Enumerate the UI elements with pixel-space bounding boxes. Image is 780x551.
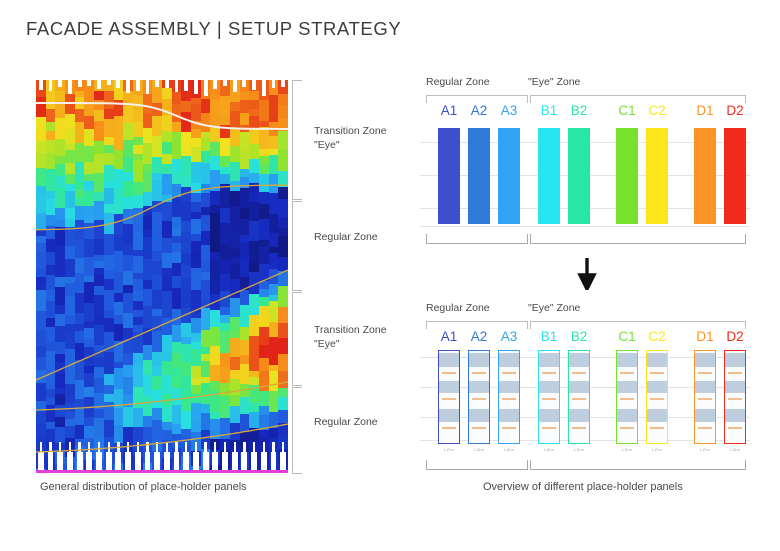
bottom-bracket-regular	[426, 234, 528, 244]
panel-dimension: 1.20 m	[690, 448, 720, 452]
panel-dimension: 1.20 m	[494, 448, 524, 452]
color-bar-d1[interactable]	[694, 128, 716, 224]
top-bracket-regular	[426, 321, 528, 329]
panel-label-b2: B2	[566, 329, 592, 344]
column-foot-notch	[280, 452, 286, 470]
panel-detail-b2[interactable]	[568, 350, 590, 444]
column-foot-notch	[135, 452, 141, 470]
column-top-notch	[204, 80, 208, 96]
down-arrow-icon	[577, 258, 597, 290]
panel-segment	[499, 381, 519, 393]
heatmap-cell	[278, 271, 288, 287]
column-foot-notch	[241, 452, 247, 470]
panel-segment	[499, 409, 519, 422]
panel-label-a3: A3	[496, 103, 522, 118]
color-bar-c1[interactable]	[616, 128, 638, 224]
heatmap-cell	[278, 338, 288, 354]
heatmap-cell	[278, 397, 288, 411]
column-foot-notch	[145, 452, 151, 470]
panel-segment	[647, 409, 667, 422]
column-top-notch	[116, 80, 120, 88]
column-foot-notch	[125, 452, 131, 470]
color-bar-b2[interactable]	[568, 128, 590, 224]
zone-label: Regular Zone	[314, 231, 378, 245]
column-top-notch	[78, 80, 82, 87]
heatmap-cell	[278, 257, 288, 271]
column-foot-notch	[183, 452, 189, 470]
column-top-notch	[272, 80, 276, 88]
heatmap-cell	[278, 199, 288, 219]
top-bracket-regular	[426, 95, 528, 103]
panel-segment	[617, 353, 637, 367]
column-foot-stem	[127, 442, 129, 454]
column-foot-stem	[234, 442, 236, 454]
column-top-notch	[49, 80, 53, 91]
color-bar-a3[interactable]	[498, 128, 520, 224]
zone-bracket	[292, 80, 302, 200]
heatmap-cell	[278, 286, 288, 308]
panel-segment	[439, 409, 459, 422]
panel-label-c1: C1	[614, 103, 640, 118]
zone-name-regular: Regular Zone	[426, 76, 490, 88]
panel-detail-d1[interactable]	[694, 350, 716, 444]
panel-tick	[542, 372, 556, 374]
panel-tick	[472, 427, 486, 429]
panel-tick	[502, 427, 516, 429]
panel-tick	[442, 398, 456, 400]
panel-tick	[572, 398, 586, 400]
column-foot-notch	[67, 452, 73, 470]
column-foot-stem	[40, 442, 42, 454]
column-foot-notch	[96, 452, 102, 470]
heatmap-column	[278, 80, 288, 472]
column-top-notch	[194, 80, 198, 94]
panel-tick	[502, 372, 516, 374]
column-foot-notch	[203, 452, 209, 470]
panel-detail-d2[interactable]	[724, 350, 746, 444]
panel-label-b2: B2	[566, 103, 592, 118]
column-foot-stem	[214, 442, 216, 454]
panel-tick	[728, 372, 742, 374]
panel-detail-c2[interactable]	[646, 350, 668, 444]
panel-detail-a3[interactable]	[498, 350, 520, 444]
panel-label-d2: D2	[722, 103, 748, 118]
column-foot-notch	[77, 452, 83, 470]
panel-tick	[698, 427, 712, 429]
panel-segment	[695, 409, 715, 422]
panel-label-b1: B1	[536, 329, 562, 344]
panel-dimension: 1.20 m	[612, 448, 642, 452]
column-top-notch	[213, 80, 217, 89]
panel-label-a2: A2	[466, 103, 492, 118]
column-foot-stem	[185, 442, 187, 454]
column-top-notch	[58, 80, 62, 87]
column-foot-stem	[263, 442, 265, 454]
column-foot-notch	[86, 452, 92, 470]
column-foot-notch	[193, 452, 199, 470]
panel-dimension: 1.20 m	[720, 448, 750, 452]
column-top-notch	[97, 80, 101, 89]
column-foot-notch	[174, 452, 180, 470]
panel-tick	[620, 427, 634, 429]
heatmap-cell	[278, 307, 288, 323]
heatmap-cell	[278, 323, 288, 339]
panel-dimension: 1.20 m	[464, 448, 494, 452]
panel-tick	[472, 372, 486, 374]
column-foot-notch	[164, 452, 170, 470]
column-foot-stem	[117, 442, 119, 454]
panel-label-a2: A2	[466, 329, 492, 344]
color-bar-a1[interactable]	[438, 128, 460, 224]
column-top-notch	[223, 80, 227, 86]
zone-name-eye: "Eye" Zone	[528, 76, 580, 88]
panel-label-a3: A3	[496, 329, 522, 344]
column-top-notch	[175, 80, 179, 92]
panel-segment	[539, 353, 559, 367]
column-foot-stem	[88, 442, 90, 454]
column-top-notch	[281, 80, 285, 87]
panel-label-c2: C2	[644, 329, 670, 344]
panel-label-d1: D1	[692, 329, 718, 344]
panel-tick	[728, 427, 742, 429]
bottom-bracket-eye	[530, 460, 746, 470]
top-bracket-eye	[530, 321, 746, 329]
panel-segment	[725, 409, 745, 422]
bottom-bracket-regular	[426, 460, 528, 470]
column-foot-stem	[195, 442, 197, 454]
color-bar-b1[interactable]	[538, 128, 560, 224]
zone-label: Regular Zone	[314, 416, 378, 430]
panel-dimension: 1.20 m	[564, 448, 594, 452]
panel-tick	[502, 398, 516, 400]
panel-label-a1: A1	[436, 329, 462, 344]
grid-line-base	[420, 226, 750, 227]
panel-tick	[698, 372, 712, 374]
panel-segment	[539, 409, 559, 422]
column-foot-stem	[108, 442, 110, 454]
column-foot-notch	[57, 452, 63, 470]
column-foot-stem	[253, 442, 255, 454]
panel-segment	[469, 353, 489, 367]
panel-detail-overview: Regular Zone"Eye" ZoneA11.20 mA21.20 mA3…	[420, 302, 750, 477]
panel-dimension: 1.20 m	[642, 448, 672, 452]
heatmap-cell	[278, 423, 288, 437]
heatmap-cell	[278, 150, 288, 172]
panel-segment	[617, 381, 637, 393]
panel-color-overview: Regular Zone"Eye" ZoneA1A2A3B1B2C1C2D1D2	[420, 76, 750, 246]
heatmap-cell	[278, 410, 288, 423]
heatmap-cell	[278, 171, 288, 188]
column-top-notch	[155, 80, 159, 87]
heatmap-cell	[278, 131, 288, 150]
column-top-notch	[165, 80, 169, 88]
panel-label-b1: B1	[536, 103, 562, 118]
panel-segment	[539, 381, 559, 393]
heatmap-cell	[278, 105, 288, 119]
column-top-notch	[146, 80, 150, 94]
heatmap-cell	[278, 118, 288, 132]
panel-segment	[439, 381, 459, 393]
column-foot-stem	[272, 442, 274, 454]
column-foot-stem	[166, 442, 168, 454]
column-top-notch	[39, 80, 43, 90]
column-top-notch	[233, 80, 237, 92]
column-foot-stem	[146, 442, 148, 454]
panel-detail-a2[interactable]	[468, 350, 490, 444]
column-foot-notch	[38, 452, 44, 470]
column-top-notch	[242, 80, 246, 87]
zone-bracket	[292, 201, 302, 291]
general-distribution-heatmap	[36, 80, 288, 472]
panel-segment	[725, 353, 745, 367]
column-foot-stem	[49, 442, 51, 454]
column-top-notch	[87, 80, 91, 86]
column-top-notch	[107, 80, 111, 85]
column-foot-stem	[243, 442, 245, 454]
panel-label-d1: D1	[692, 103, 718, 118]
zone-name-eye: "Eye" Zone	[528, 302, 580, 314]
zone-label: Transition Zone "Eye"	[314, 125, 387, 152]
panel-segment	[439, 353, 459, 367]
panel-segment	[725, 381, 745, 393]
column-foot-notch	[251, 452, 257, 470]
panel-tick	[472, 398, 486, 400]
column-top-notch	[136, 80, 140, 91]
column-foot-notch	[154, 452, 160, 470]
column-foot-notch	[212, 452, 218, 470]
page-title: FACADE ASSEMBLY | SETUP STRATEGY	[26, 18, 401, 40]
panel-tick	[620, 372, 634, 374]
panel-tick	[728, 398, 742, 400]
panel-tick	[542, 398, 556, 400]
column-top-notch	[262, 80, 266, 96]
column-foot-stem	[156, 442, 158, 454]
panel-tick	[620, 398, 634, 400]
zone-bracket	[292, 387, 302, 474]
panel-tick	[442, 372, 456, 374]
column-foot-notch	[106, 452, 112, 470]
panel-segment	[499, 353, 519, 367]
panel-segment	[617, 409, 637, 422]
column-foot-stem	[78, 442, 80, 454]
column-foot-stem	[59, 442, 61, 454]
panel-segment	[569, 381, 589, 393]
panel-segment	[469, 409, 489, 422]
panel-tick	[542, 427, 556, 429]
column-foot-notch	[115, 452, 121, 470]
panel-tick	[442, 427, 456, 429]
panel-detail-a1[interactable]	[438, 350, 460, 444]
column-foot-notch	[232, 452, 238, 470]
column-foot-notch	[48, 452, 54, 470]
column-top-notch	[252, 80, 256, 90]
panel-segment	[647, 353, 667, 367]
column-foot-stem	[69, 442, 71, 454]
column-foot-stem	[282, 442, 284, 454]
zone-name-regular: Regular Zone	[426, 302, 490, 314]
column-foot-notch	[271, 452, 277, 470]
column-foot-notch	[222, 452, 228, 470]
column-foot-stem	[137, 442, 139, 454]
zone-bracket	[292, 292, 302, 386]
zone-label: Transition Zone "Eye"	[314, 324, 387, 351]
panel-label-c1: C1	[614, 329, 640, 344]
panel-dimension: 1.20 m	[534, 448, 564, 452]
column-foot-stem	[224, 442, 226, 454]
panel-detail-b1[interactable]	[538, 350, 560, 444]
column-foot-stem	[98, 442, 100, 454]
panel-label-a1: A1	[436, 103, 462, 118]
panel-tick	[650, 398, 664, 400]
caption-left: General distribution of place-holder pan…	[40, 481, 247, 493]
panel-dimension: 1.20 m	[434, 448, 464, 452]
heatmap-cell	[278, 236, 288, 258]
heatmap-cell	[278, 187, 288, 199]
bottom-bracket-eye	[530, 234, 746, 244]
heatmap-grid	[36, 80, 288, 472]
top-bracket-eye	[530, 95, 746, 103]
panel-segment	[695, 381, 715, 393]
baseline-rule	[36, 470, 288, 473]
panel-tick	[650, 372, 664, 374]
panel-label-d2: D2	[722, 329, 748, 344]
panel-tick	[572, 427, 586, 429]
column-foot-stem	[204, 442, 206, 454]
panel-segment	[569, 353, 589, 367]
panel-tick	[650, 427, 664, 429]
heatmap-cell	[278, 371, 288, 389]
color-bar-c2[interactable]	[646, 128, 668, 224]
column-top-notch	[68, 80, 72, 94]
panel-segment	[469, 381, 489, 393]
panel-segment	[647, 381, 667, 393]
heatmap-cell	[278, 354, 288, 372]
panel-tick	[698, 398, 712, 400]
column-top-notch	[126, 80, 130, 93]
color-bar-d2[interactable]	[724, 128, 746, 224]
panel-detail-c1[interactable]	[616, 350, 638, 444]
column-foot-notch	[261, 452, 267, 470]
zone-bracket-column: Transition Zone "Eye"Regular ZoneTransit…	[292, 80, 422, 472]
column-foot-stem	[175, 442, 177, 454]
panel-tick	[572, 372, 586, 374]
panel-segment	[695, 353, 715, 367]
caption-right: Overview of different place-holder panel…	[483, 481, 683, 493]
panel-segment	[569, 409, 589, 422]
panel-label-c2: C2	[644, 103, 670, 118]
color-bar-a2[interactable]	[468, 128, 490, 224]
column-top-notch	[184, 80, 188, 91]
